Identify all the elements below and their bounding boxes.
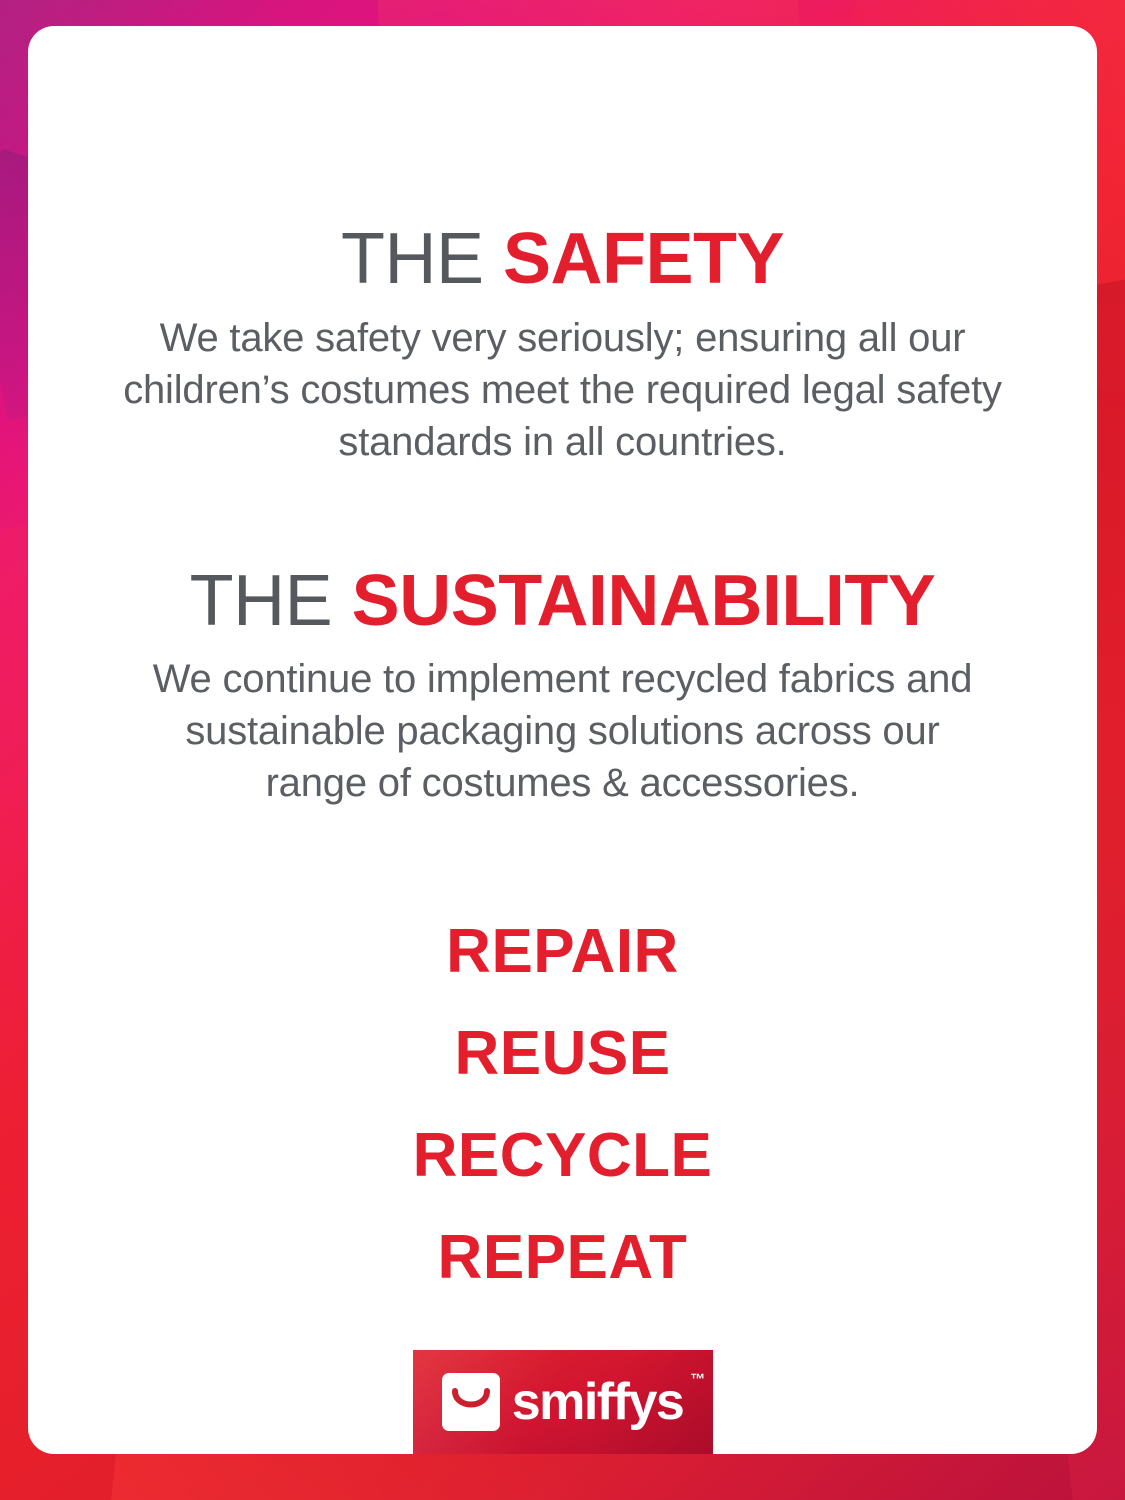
- safety-heading-accent: SAFETY: [503, 219, 784, 299]
- brand-wordmark-text: smiffys: [512, 1373, 684, 1431]
- safety-heading-prefix: THE: [341, 219, 484, 299]
- sustainability-heading: THE SUSTAINABILITY: [28, 564, 1097, 640]
- content-card: THE SAFETY We take safety very seriously…: [28, 26, 1097, 1454]
- brand-wordmark: smiffys ™: [512, 1376, 684, 1428]
- safety-heading: THE SAFETY: [28, 222, 1097, 298]
- poster: THE SAFETY We take safety very seriously…: [0, 0, 1125, 1500]
- slogan-line-reuse: REUSE: [28, 1023, 1097, 1085]
- content-stack: THE SAFETY We take safety very seriously…: [28, 26, 1097, 1289]
- smile-icon: [442, 1373, 500, 1431]
- sustainability-heading-accent: SUSTAINABILITY: [352, 561, 936, 641]
- slogan-line-recycle: RECYCLE: [28, 1125, 1097, 1187]
- slogan-block: REPAIR REUSE RECYCLE REPEAT: [28, 921, 1097, 1289]
- safety-body-text: We take safety very seriously; ensuring …: [123, 312, 1003, 468]
- slogan-line-repeat: REPEAT: [28, 1227, 1097, 1289]
- slogan-line-repair: REPAIR: [28, 921, 1097, 983]
- trademark-symbol: ™: [690, 1372, 705, 1387]
- sustainability-heading-prefix: THE: [190, 561, 333, 641]
- brand-logo-tab: smiffys ™: [413, 1350, 713, 1454]
- sustainability-body-text: We continue to implement recycled fabric…: [133, 653, 993, 809]
